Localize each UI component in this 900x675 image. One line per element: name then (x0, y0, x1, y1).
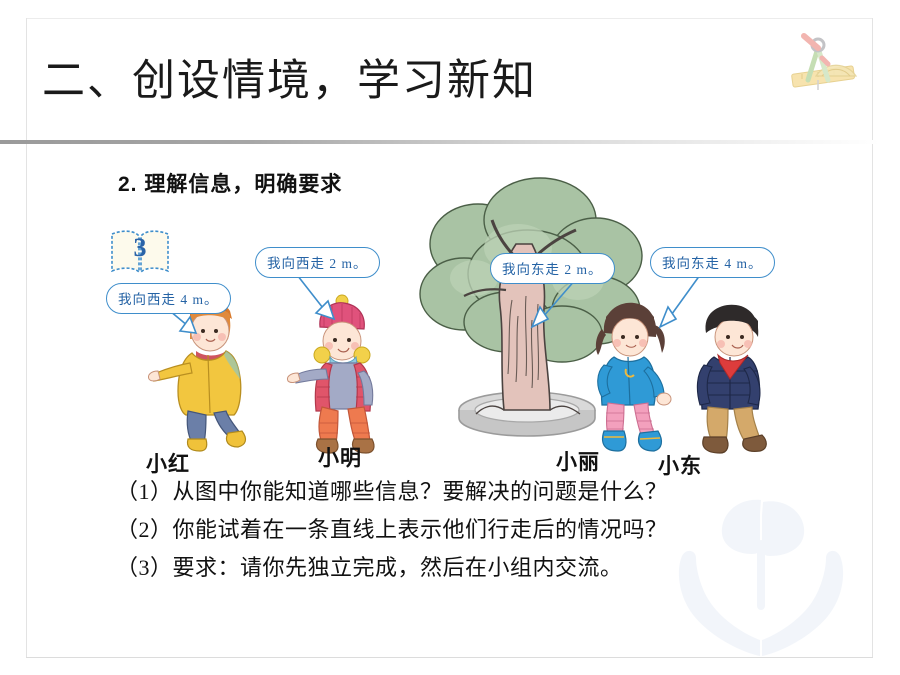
speech-tail-xiaoli (500, 277, 580, 329)
character-name-xiaoli: 小丽 (556, 446, 600, 476)
speech-bubble-xiaoming: 我向西走 2 m。 (255, 247, 380, 278)
slide-frame-top (26, 18, 873, 19)
character-name-xiaodong: 小东 (658, 450, 702, 480)
drawing-tools-icon (778, 18, 870, 106)
illustration-scene: 我向西走 4 m。 (100, 165, 820, 465)
speech-bubble-xiaohong: 我向西走 4 m。 (106, 283, 231, 314)
speech-tail-xiaodong (630, 273, 704, 329)
hands-sprout-watermark (636, 470, 886, 670)
slide-frame-right (872, 18, 873, 658)
slide-frame-bottom (26, 657, 873, 658)
character-name-xiaohong: 小红 (146, 448, 190, 478)
character-name-xiaoming: 小明 (318, 442, 362, 472)
speech-bubble-xiaoli: 我向东走 2 m。 (490, 253, 615, 284)
slide-canvas: 二、创设情境，学习新知 2. 理解信息，明确要求 3 (0, 0, 900, 675)
question-line-1: （1）从图中你能知道哪些信息？要解决的问题是什么？ (116, 474, 668, 506)
title-divider (0, 140, 880, 144)
speech-bubble-xiaodong: 我向东走 4 m。 (650, 247, 775, 278)
question-line-2: （2）你能试着在一条直线上表示他们行走后的情况吗？ (116, 512, 668, 544)
slide-frame-left (26, 18, 27, 658)
page-title: 二、创设情境，学习新知 (42, 60, 537, 103)
question-line-3: （3）要求：请你先独立完成，然后在小组内交流。 (116, 550, 623, 582)
